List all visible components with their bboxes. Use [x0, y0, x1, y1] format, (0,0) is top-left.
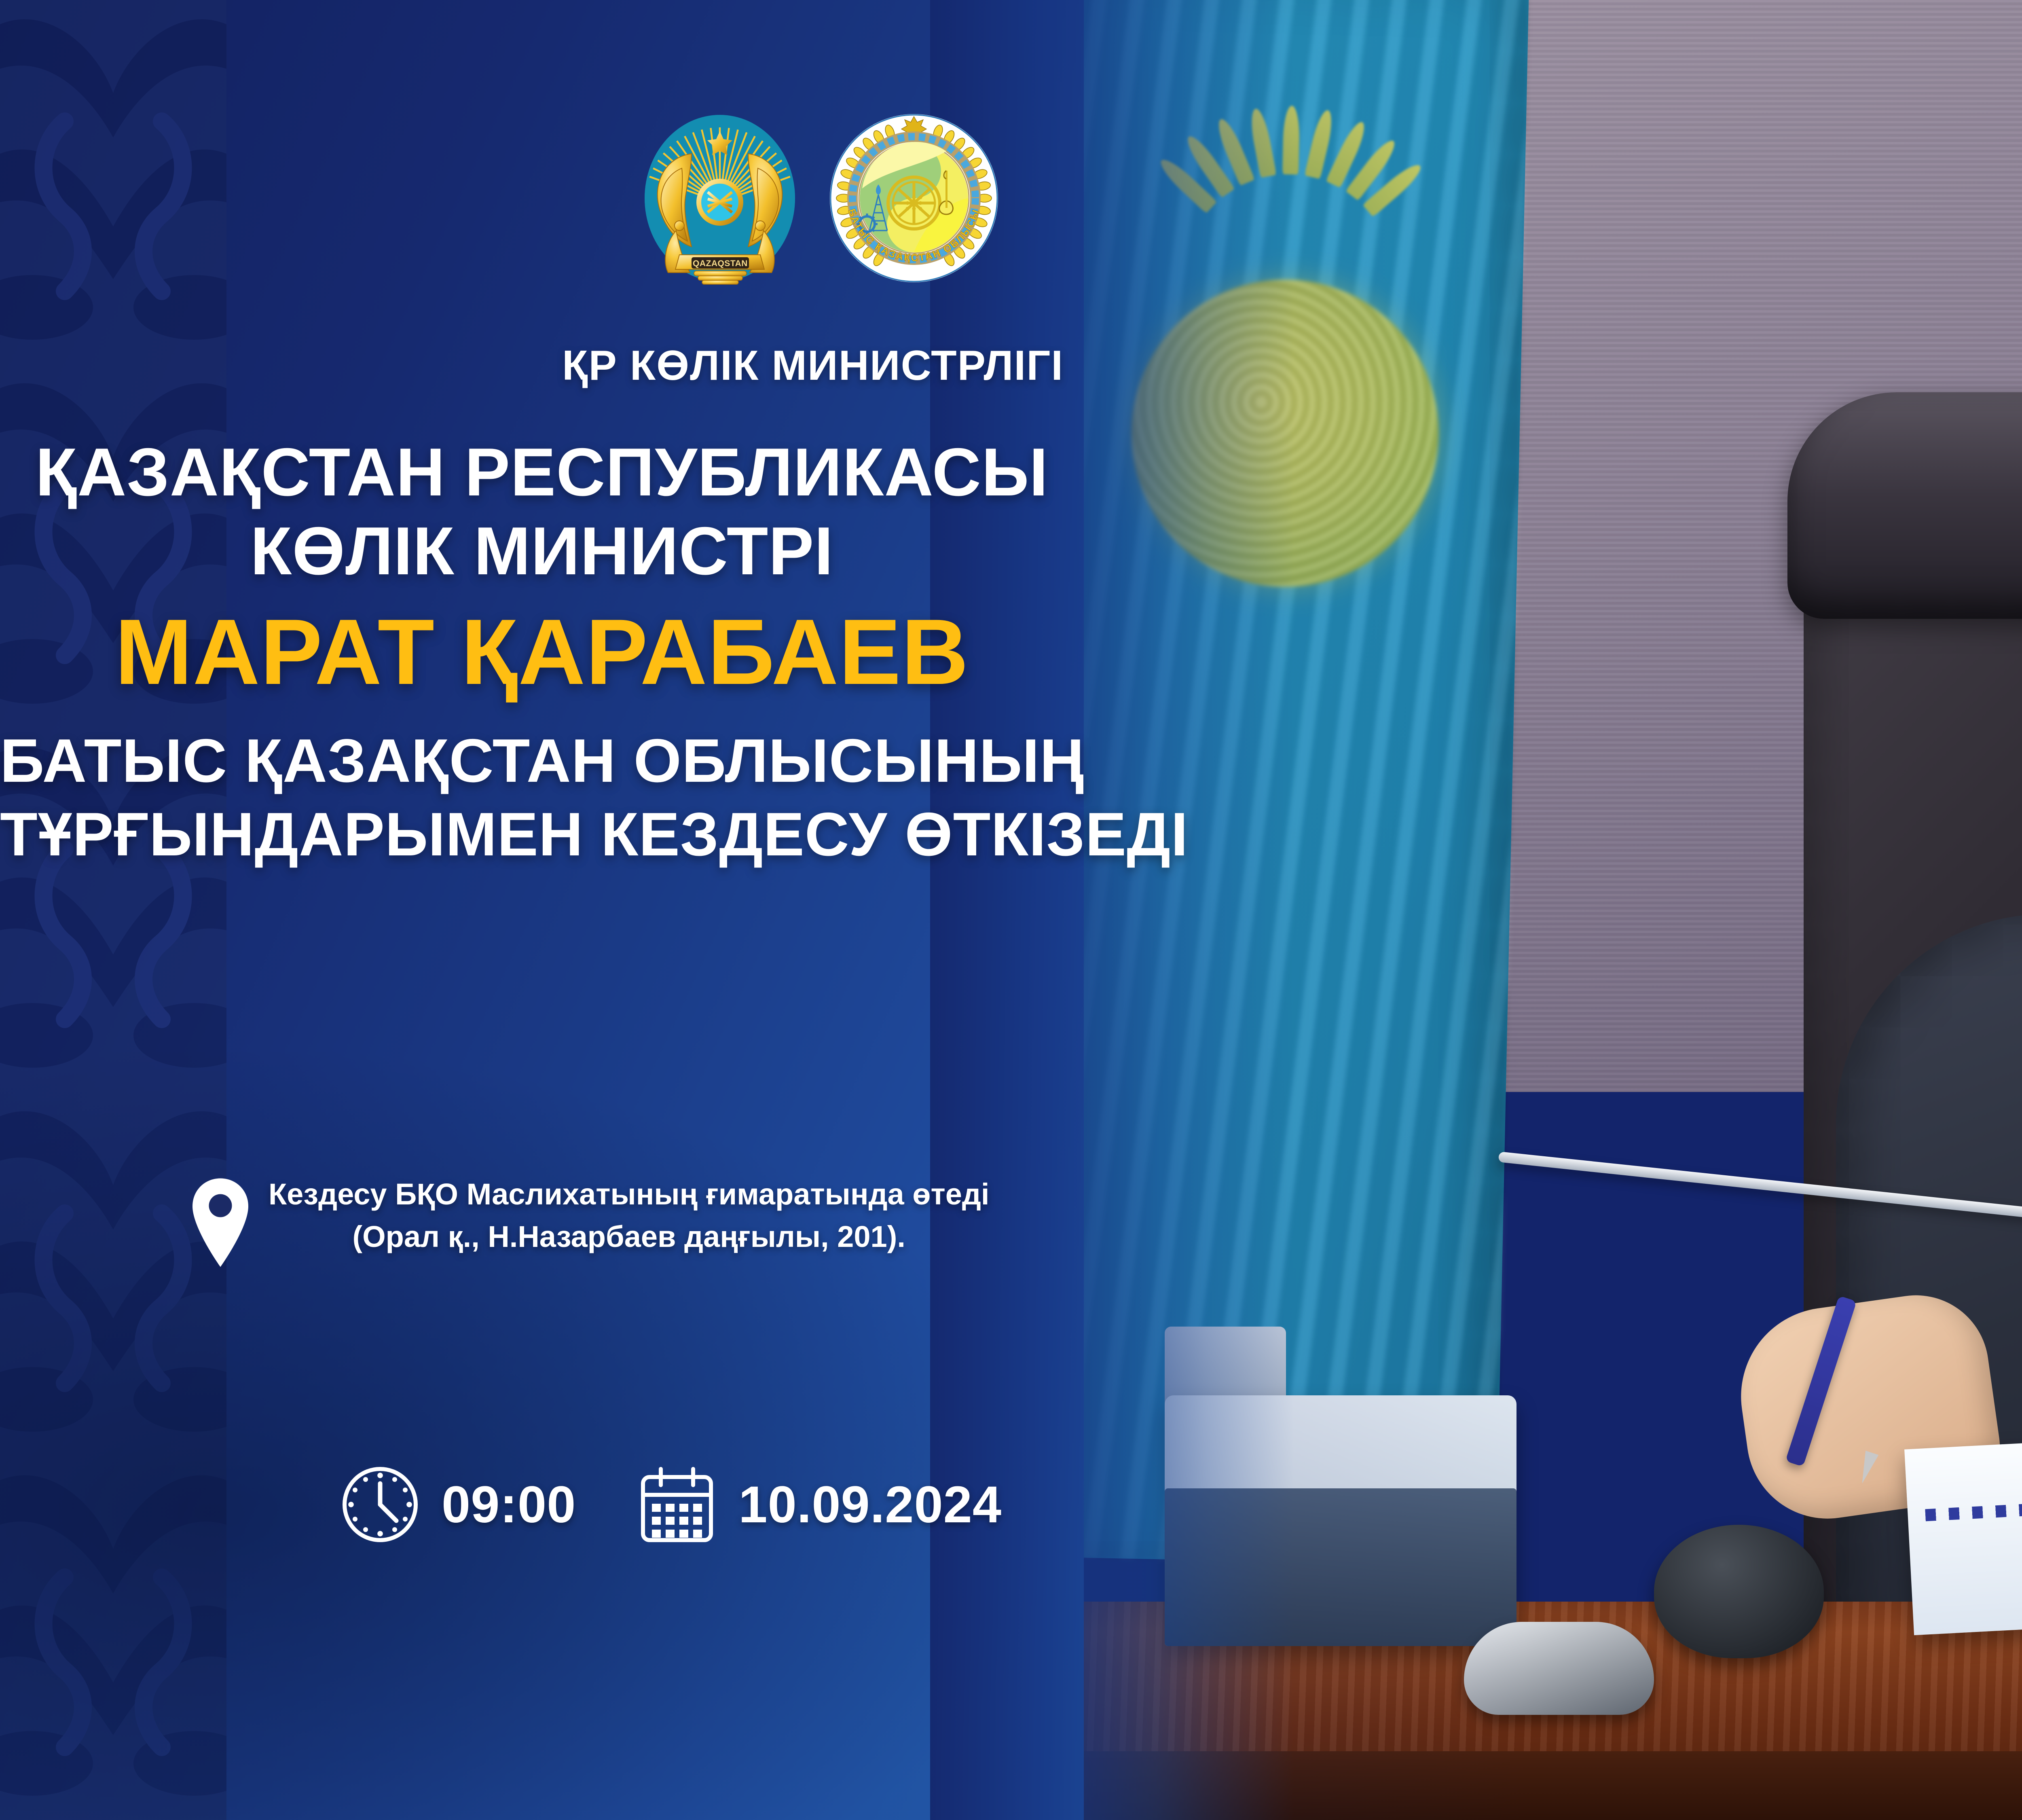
emblem-row: QAZAQSTAN	[631, 109, 1003, 287]
person-name: МАРАТ ҚАРАБАЕВ	[0, 596, 1084, 708]
microphone-capsule	[1654, 1525, 1824, 1658]
panel-vignette	[0, 1052, 1051, 1820]
date-value: 10.09.2024	[738, 1475, 1002, 1534]
time-item: 09:00	[340, 1464, 576, 1545]
kazakhstan-state-emblem: QAZAQSTAN	[631, 109, 809, 287]
title-line-1: ҚАЗАҚСТАН РЕСПУБЛИКАСЫ	[0, 433, 1084, 512]
time-value: 09:00	[442, 1475, 576, 1534]
title-line-2: КӨЛІК МИНИСТРІ	[0, 512, 1084, 590]
location-pin-icon	[190, 1176, 251, 1269]
west-kazakhstan-region-emblem: БАТЫС ҚАЗАҚСТАН ОБЛЫСЫ	[825, 109, 1003, 287]
title-line-4: ТҰРҒЫНДАРЫМЕН КЕЗДЕСУ ӨТКІЗЕДІ	[0, 798, 1084, 871]
venue-line-1: Кездесу БҚО Маслихатының ғимаратында өте…	[269, 1173, 989, 1215]
schedule-block: 09:00 1	[340, 1464, 1002, 1545]
svg-text:QAZAQSTAN: QAZAQSTAN	[693, 259, 748, 268]
calendar-icon	[637, 1464, 717, 1545]
announcement-banner: BOSCH	[0, 0, 2022, 1820]
ministry-label: ҚР КӨЛІК МИНИСТРЛІГІ	[562, 342, 1064, 390]
clock-icon	[340, 1464, 421, 1545]
venue-line-2: (Орал қ., Н.Назарбаев даңғылы, 201).	[269, 1215, 989, 1258]
date-item: 10.09.2024	[637, 1464, 1002, 1545]
office-chair-headrest	[1787, 392, 2022, 619]
title-block: ҚАЗАҚСТАН РЕСПУБЛИКАСЫ КӨЛІК МИНИСТРІ МА…	[0, 433, 1084, 872]
venue-block: Кездесу БҚО Маслихатының ғимаратында өте…	[190, 1173, 1080, 1269]
computer-mouse	[1464, 1622, 1654, 1715]
venue-text: Кездесу БҚО Маслихатының ғимаратында өте…	[269, 1173, 989, 1258]
title-line-3: БАТЫС ҚАЗАҚСТАН ОБЛЫСЫНЫҢ	[0, 724, 1084, 798]
